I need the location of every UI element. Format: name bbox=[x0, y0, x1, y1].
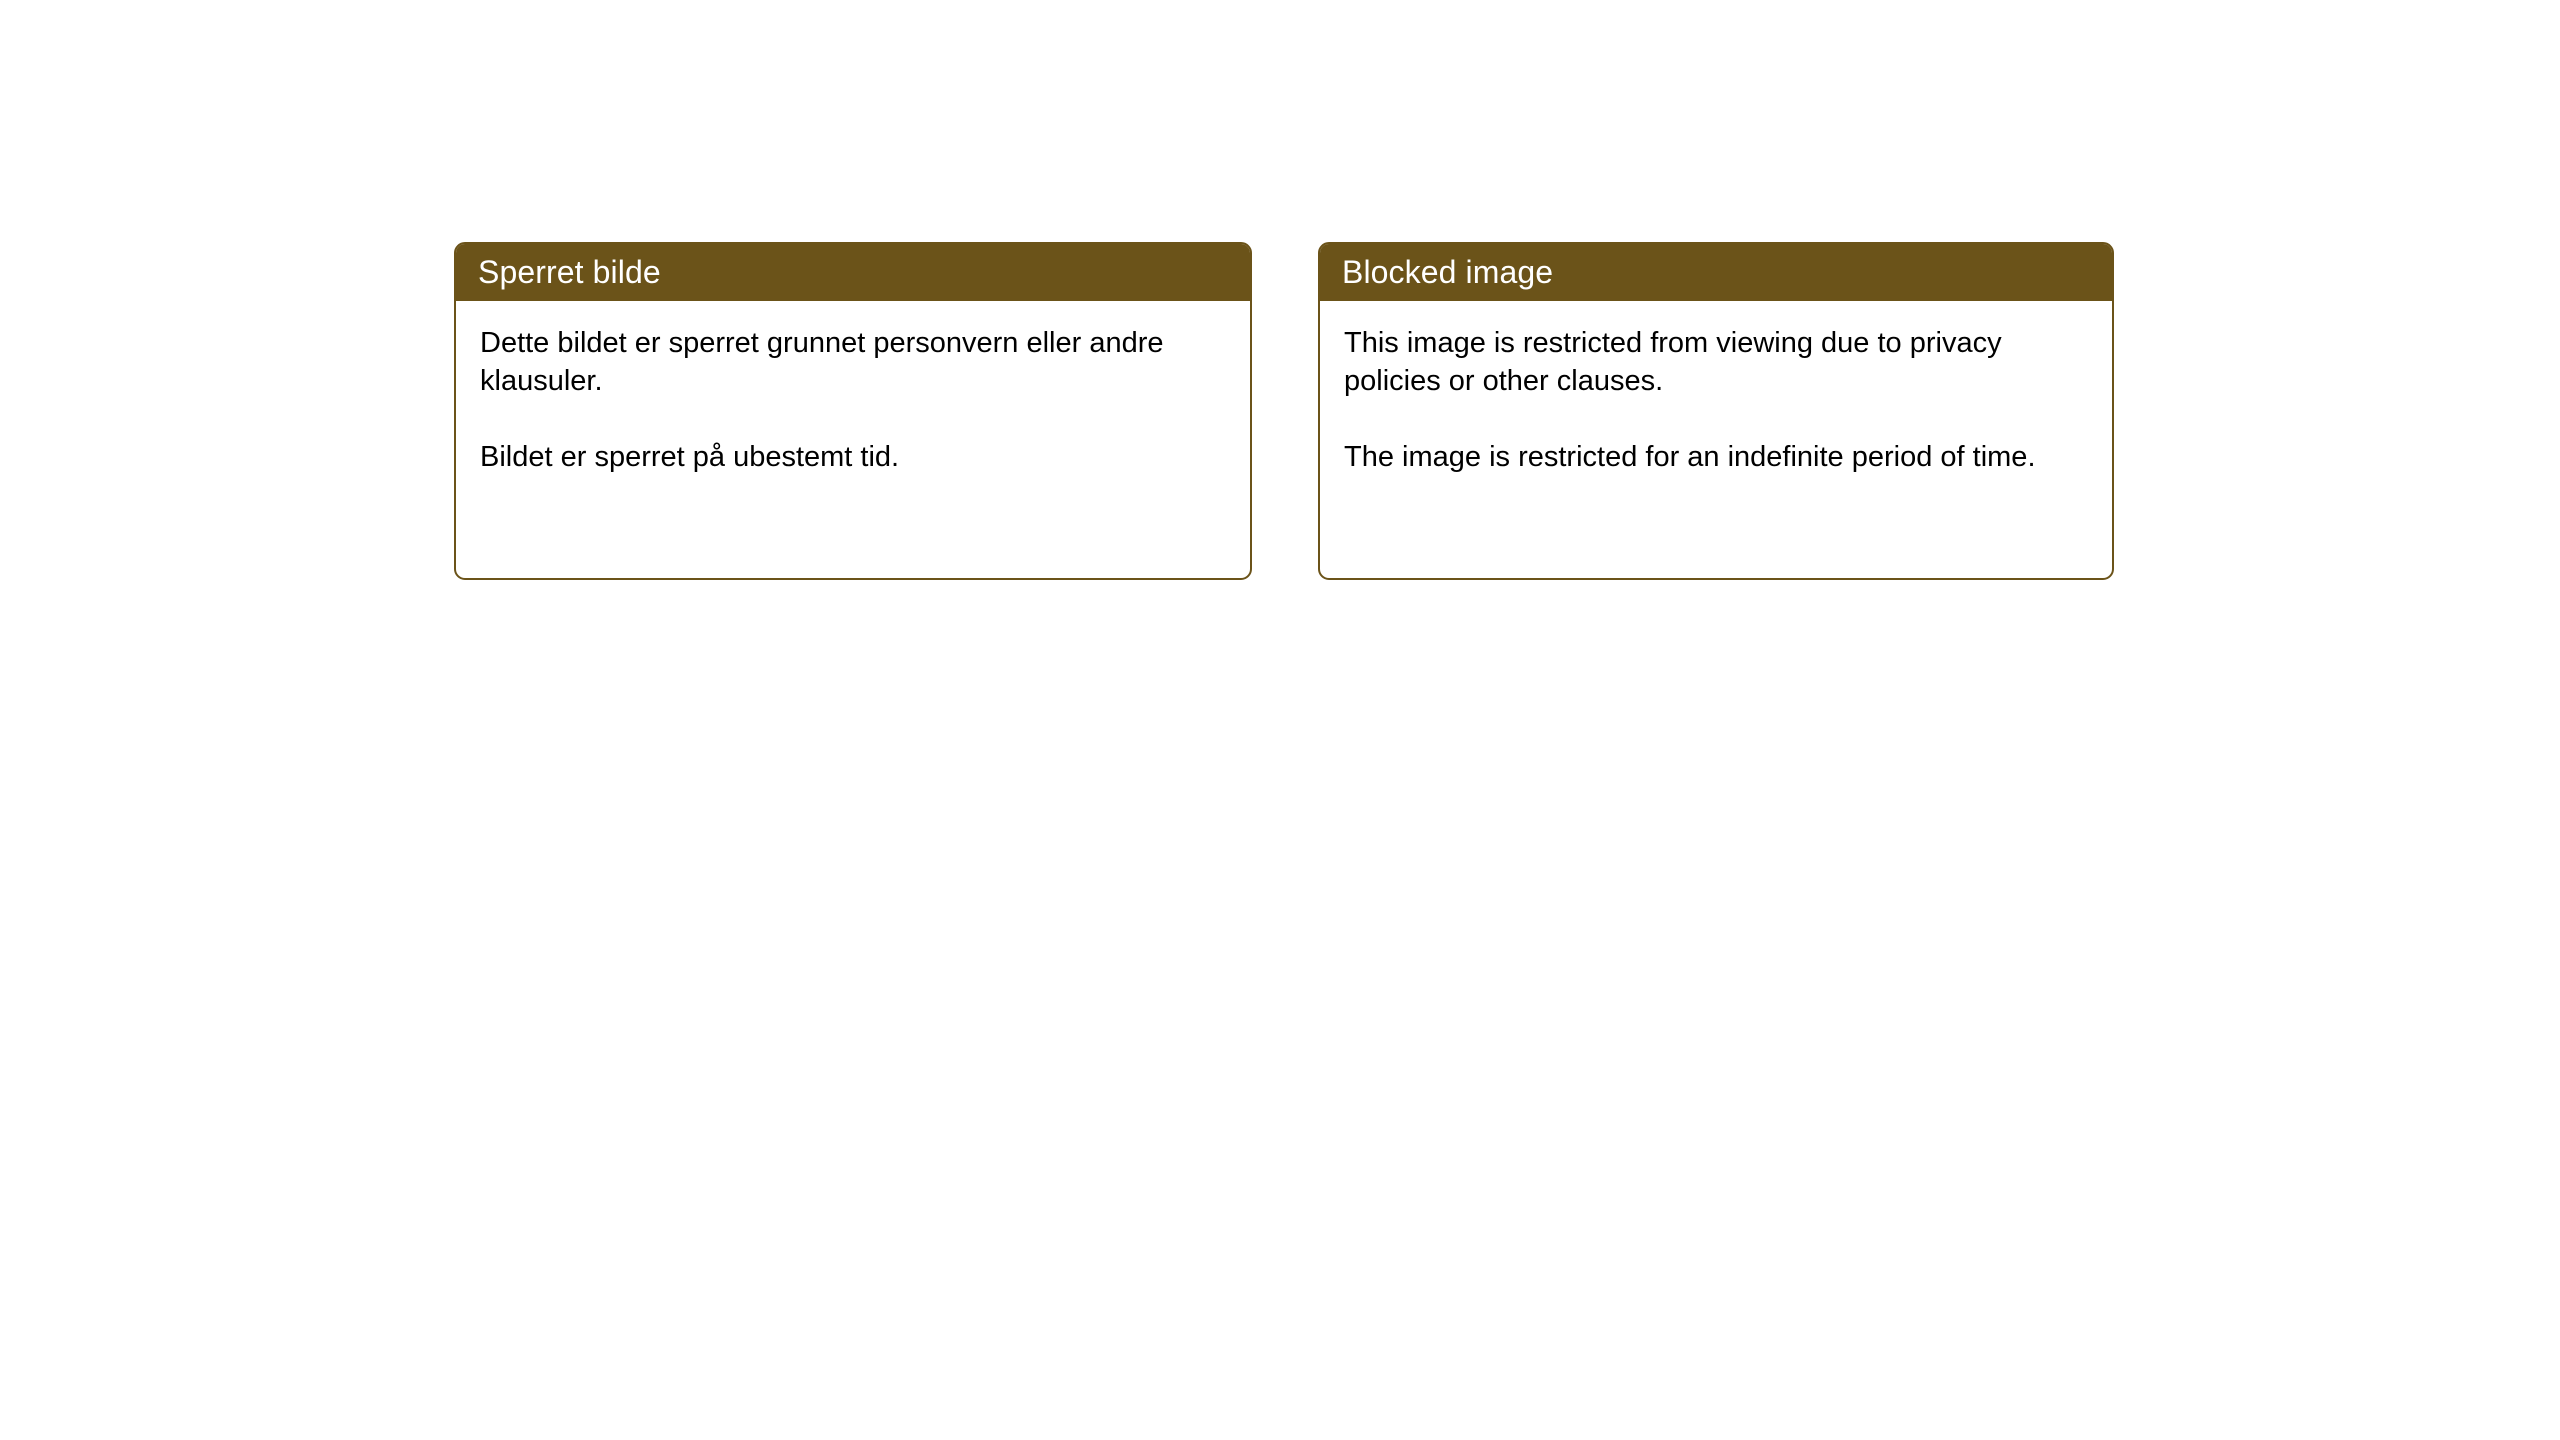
card-header-english: Blocked image bbox=[1318, 242, 2114, 301]
card-header-norwegian: Sperret bilde bbox=[454, 242, 1252, 301]
card-title-english: Blocked image bbox=[1342, 256, 1553, 288]
card-paragraph-duration-norwegian: Bildet er sperret på ubestemt tid. bbox=[480, 438, 1220, 476]
card-body-english: This image is restricted from viewing du… bbox=[1320, 301, 2112, 476]
blocked-image-card-english: Blocked image This image is restricted f… bbox=[1318, 242, 2114, 580]
blocked-image-card-norwegian: Sperret bilde Dette bildet er sperret gr… bbox=[454, 242, 1252, 580]
blocked-image-notices: Sperret bilde Dette bildet er sperret gr… bbox=[0, 0, 2560, 1440]
card-body-norwegian: Dette bildet er sperret grunnet personve… bbox=[456, 301, 1250, 476]
card-title-norwegian: Sperret bilde bbox=[478, 256, 661, 288]
card-paragraph-reason-norwegian: Dette bildet er sperret grunnet personve… bbox=[480, 324, 1220, 400]
card-paragraph-reason-english: This image is restricted from viewing du… bbox=[1344, 324, 2082, 400]
card-paragraph-duration-english: The image is restricted for an indefinit… bbox=[1344, 438, 2082, 476]
